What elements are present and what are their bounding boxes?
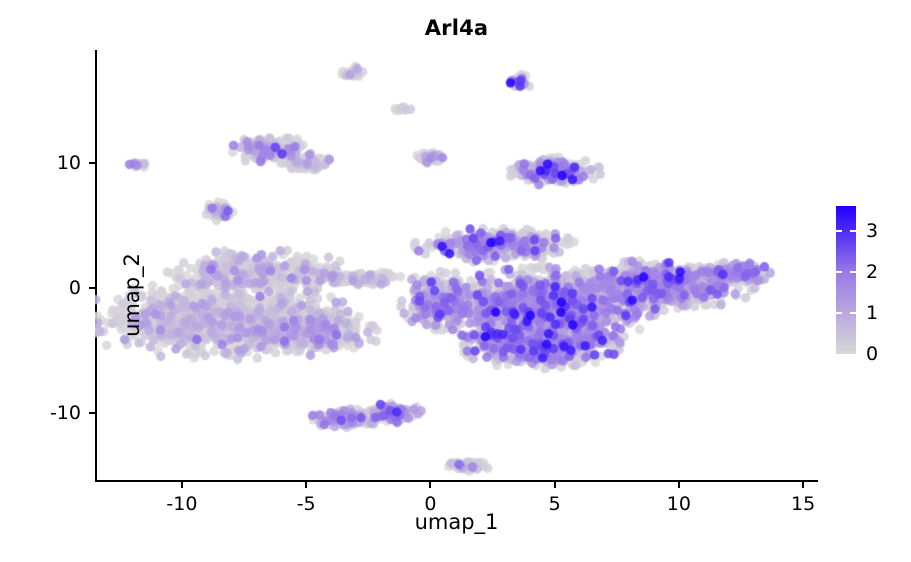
umap-figure-canvas: Arl4a -10-5051015 -10010 umap_2 umap_1 0… <box>0 0 911 562</box>
x-tick-mark <box>181 482 183 488</box>
colorbar-tick-mark <box>836 271 856 273</box>
y-axis-label: umap_2 <box>120 220 144 370</box>
y-tick-mark <box>89 162 95 164</box>
colorbar-tick-label: 2 <box>866 261 878 283</box>
colorbar-legend: 0123 <box>836 206 911 354</box>
colorbar-tick-mark <box>836 230 856 232</box>
y-tick-mark <box>89 287 95 289</box>
x-tick-mark <box>678 482 680 488</box>
y-tick-mark <box>89 412 95 414</box>
x-tick-mark <box>429 482 431 488</box>
colorbar-tick-label: 3 <box>866 220 878 242</box>
y-tick-label: 0 <box>69 277 81 299</box>
x-tick-mark <box>305 482 307 488</box>
x-tick-mark <box>554 482 556 488</box>
x-tick-mark <box>802 482 804 488</box>
y-tick-label: 10 <box>57 152 81 174</box>
page-title: Arl4a <box>95 16 818 40</box>
x-axis-label: umap_1 <box>95 510 818 534</box>
colorbar-tick-label: 1 <box>866 302 878 324</box>
scatter-plot-points <box>95 50 818 482</box>
colorbar-tick-mark <box>836 312 856 314</box>
y-tick-label: -10 <box>50 402 81 424</box>
colorbar-tick-label: 0 <box>866 343 878 365</box>
plot-axes: -10-5051015 -10010 umap_2 <box>95 50 818 482</box>
colorbar-gradient-strip <box>836 206 856 354</box>
